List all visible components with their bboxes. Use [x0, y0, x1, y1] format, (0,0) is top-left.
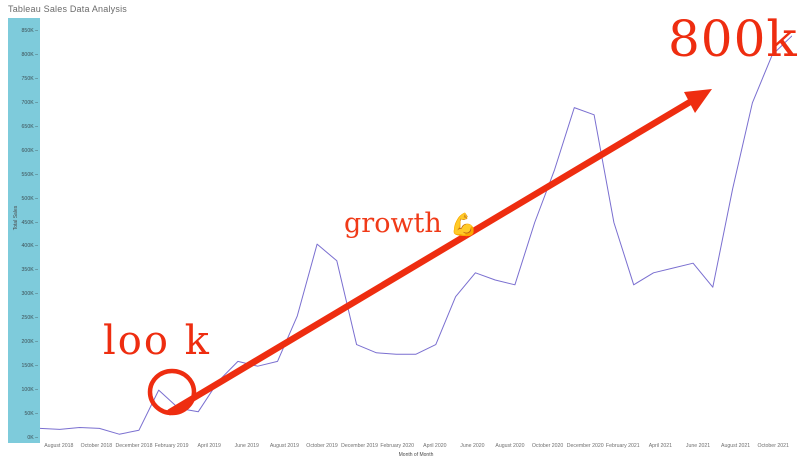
y-axis-tick-label: 350K –: [0, 267, 38, 273]
y-axis-tick-label: 850K –: [0, 28, 38, 34]
page-title: Tableau Sales Data Analysis: [8, 4, 127, 14]
y-axis-tick-label: 300K –: [0, 291, 38, 297]
x-axis-tick-label: April 2021: [649, 443, 672, 449]
x-axis-tick-label: August 2020: [495, 443, 524, 449]
x-axis-tick-label: August 2021: [721, 443, 750, 449]
y-axis-tick-label: 100K –: [0, 387, 38, 393]
y-axis-tick-label: 0K –: [0, 435, 38, 441]
x-axis-tick-label: December 2018: [116, 443, 153, 449]
y-axis-tick-label: 500K –: [0, 196, 38, 202]
y-axis-tick-label: 650K –: [0, 124, 38, 130]
x-axis-tick-label: August 2018: [44, 443, 73, 449]
sales-line-chart: [40, 18, 792, 443]
x-axis: August 2018October 2018December 2018Febr…: [40, 443, 792, 453]
x-axis-tick-label: December 2020: [567, 443, 604, 449]
plot-area: [40, 18, 792, 443]
y-axis-tick-label: 600K –: [0, 148, 38, 154]
x-axis-tick-label: October 2021: [757, 443, 788, 449]
x-axis-tick-label: April 2019: [198, 443, 221, 449]
y-axis-tick-label: 450K –: [0, 220, 38, 226]
x-axis-title: Month of Month: [40, 452, 792, 458]
y-axis-tick-label: 800K –: [0, 52, 38, 58]
x-axis-tick-label: June 2019: [235, 443, 259, 449]
y-axis-tick-label: 550K –: [0, 172, 38, 178]
y-axis-tick-label: 250K –: [0, 315, 38, 321]
y-axis-tick-label: 50K –: [0, 411, 38, 417]
x-axis-tick-label: April 2020: [423, 443, 446, 449]
x-axis-tick-label: August 2019: [270, 443, 299, 449]
x-axis-tick-label: October 2019: [306, 443, 337, 449]
y-axis-tick-label: 400K –: [0, 243, 38, 249]
y-axis-tick-label: 750K –: [0, 76, 38, 82]
x-axis-tick-label: February 2020: [380, 443, 414, 449]
x-axis-tick-label: June 2021: [686, 443, 710, 449]
x-axis-tick-label: December 2019: [341, 443, 378, 449]
x-axis-tick-label: February 2019: [155, 443, 189, 449]
y-axis-tick-label: 700K –: [0, 100, 38, 106]
x-axis-tick-label: October 2018: [81, 443, 112, 449]
chart-page: Tableau Sales Data Analysis Total Sales …: [0, 0, 800, 461]
y-axis-tick-label: 200K –: [0, 339, 38, 345]
x-axis-tick-label: October 2020: [532, 443, 563, 449]
x-axis-tick-label: February 2021: [606, 443, 640, 449]
sales-line-series: [40, 36, 792, 434]
y-axis-tick-label: 150K –: [0, 363, 38, 369]
x-axis-tick-label: June 2020: [460, 443, 484, 449]
